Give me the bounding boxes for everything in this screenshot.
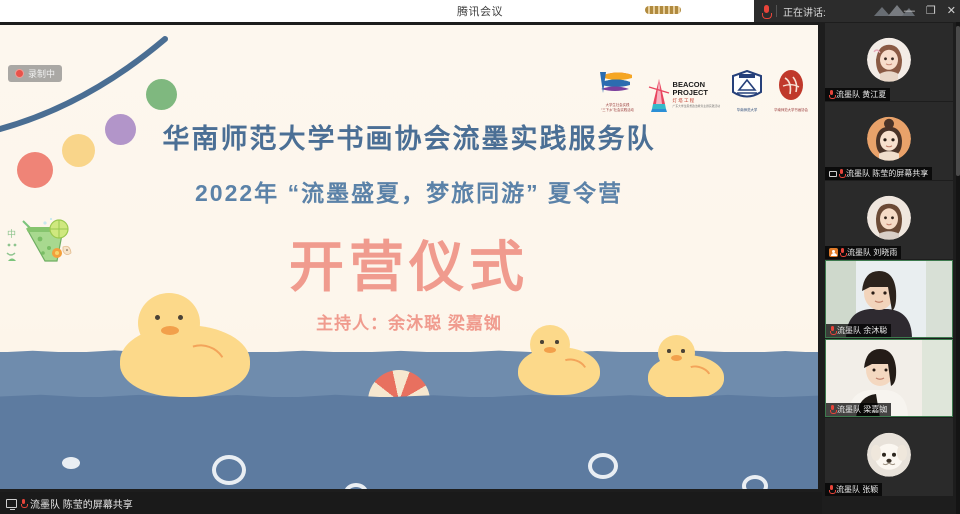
minimize-button[interactable]: — (904, 6, 915, 17)
beacon-project-logo: BEACONPROJECT 灯 塔 工 程 广东大学生思想政治教育主题实践活动 (648, 78, 721, 112)
speaking-indicator-bar: 正在讲话: — ❐ ✕ (754, 0, 960, 22)
participant-name: 流墨队 梁嘉铷 (837, 404, 887, 415)
recording-label: 录制中 (28, 67, 55, 80)
microphone-muted-icon (829, 90, 834, 99)
slide-headline: 开营仪式 (0, 222, 818, 302)
divider (776, 5, 777, 17)
recording-dot-icon (15, 69, 24, 78)
water-bubble (62, 457, 80, 469)
person-icon (829, 248, 838, 257)
slide-logo-row: 大学生社会实践“三下乡”社会实践活动 BEACONPROJECT 灯 塔 工 程… (598, 69, 808, 112)
participant-name: 流墨队 陈莹的屏幕共享 (846, 168, 928, 179)
slide-event-subtitle: 2022年 “流墨盛夏，梦旅同游” 夏令营 (0, 174, 818, 208)
participant-tile[interactable]: 流墨队 张颖 (825, 418, 953, 496)
share-status-bar: 流墨队 陈莹的屏幕共享 (0, 492, 822, 514)
participant-nameplate: 流墨队 张颖 (825, 483, 882, 496)
participant-nameplate: 流墨队 梁嘉铷 (826, 403, 891, 416)
lantern-green (146, 79, 177, 110)
screen-share-icon (6, 499, 17, 508)
water-front-layer (0, 397, 818, 489)
participant-name: 流墨队 黄江夏 (836, 89, 886, 100)
share-status-label: 流墨队 陈莹的屏幕共享 (30, 496, 133, 511)
seal-logo-caption: 华南师范大学书画协会 (774, 108, 808, 113)
title-bar-indicator (645, 6, 681, 14)
participant-tile[interactable]: 流墨队 陈莹的屏幕共享 (825, 102, 953, 180)
maximize-button[interactable]: ❐ (926, 6, 936, 17)
presentation-slide: 中 华南师范大学书画协会流墨实践服务队 2022年 “流墨盛夏，梦旅同游” 夏令… (0, 25, 818, 489)
participant-tile[interactable]: 流墨队 黄江夏 (825, 23, 953, 101)
water-bubble-ring (212, 455, 246, 485)
water-bubble-ring (588, 453, 618, 479)
slide-organization-title: 华南师范大学书画协会流墨实践服务队 (0, 117, 818, 156)
recording-badge[interactable]: 录制中 (8, 65, 62, 82)
scnu-crest-logo: 华南师范大学 (730, 70, 764, 113)
participant-nameplate: 流墨队 余沐聪 (826, 324, 891, 337)
participant-nameplate: 流墨队 刘晓雨 (825, 246, 901, 259)
microphone-muted-icon (21, 499, 26, 508)
participant-tile[interactable]: 流墨队 梁嘉铷 (825, 339, 953, 417)
participant-name: 流墨队 余沐聪 (837, 325, 887, 336)
ribbon-logo: 大学生社会实践“三下乡”社会实践活动 (598, 69, 638, 112)
microphone-muted-icon (829, 485, 834, 494)
window-title-bar: 腾讯会议 正在讲话: — ❐ ✕ (0, 0, 960, 22)
participant-strip-scrollbar[interactable] (956, 22, 960, 514)
microphone-muted-icon (839, 169, 844, 178)
screen-share-icon (829, 171, 837, 177)
speaking-label: 正在讲话: (783, 4, 826, 19)
participant-name: 流墨队 张颖 (836, 484, 878, 495)
red-seal-logo: 华南师范大学书画协会 (774, 70, 808, 113)
microphone-muted-icon (762, 5, 770, 18)
participant-tile[interactable]: 流墨队 余沐聪 (825, 260, 953, 338)
microphone-muted-icon (830, 405, 835, 414)
avatar (867, 38, 911, 82)
avatar (867, 433, 911, 477)
avatar (867, 196, 911, 240)
participant-nameplate: 流墨队 黄江夏 (825, 88, 890, 101)
close-button[interactable]: ✕ (947, 6, 956, 17)
ribbon-logo-caption: 大学生社会实践“三下乡”社会实践活动 (598, 103, 638, 112)
participant-tile[interactable]: 流墨队 刘晓雨 (825, 181, 953, 259)
scrollbar-thumb[interactable] (956, 26, 960, 176)
microphone-muted-icon (830, 326, 835, 335)
participant-name: 流墨队 刘晓雨 (847, 247, 897, 258)
scnu-logo-caption: 华南师范大学 (730, 108, 764, 113)
participant-nameplate: 流墨队 陈莹的屏幕共享 (825, 167, 932, 180)
participant-video-strip[interactable]: 流墨队 黄江夏 流墨队 陈莹的屏幕共享 流墨队 刘晓雨 流墨队 余沐聪 流墨队 … (822, 22, 960, 514)
shared-screen-stage[interactable]: 中 华南师范大学书画协会流墨实践服务队 2022年 “流墨盛夏，梦旅同游” 夏令… (0, 22, 822, 492)
microphone-muted-icon (840, 248, 845, 257)
window-controls[interactable]: — ❐ ✕ (904, 0, 956, 22)
avatar (867, 117, 911, 161)
